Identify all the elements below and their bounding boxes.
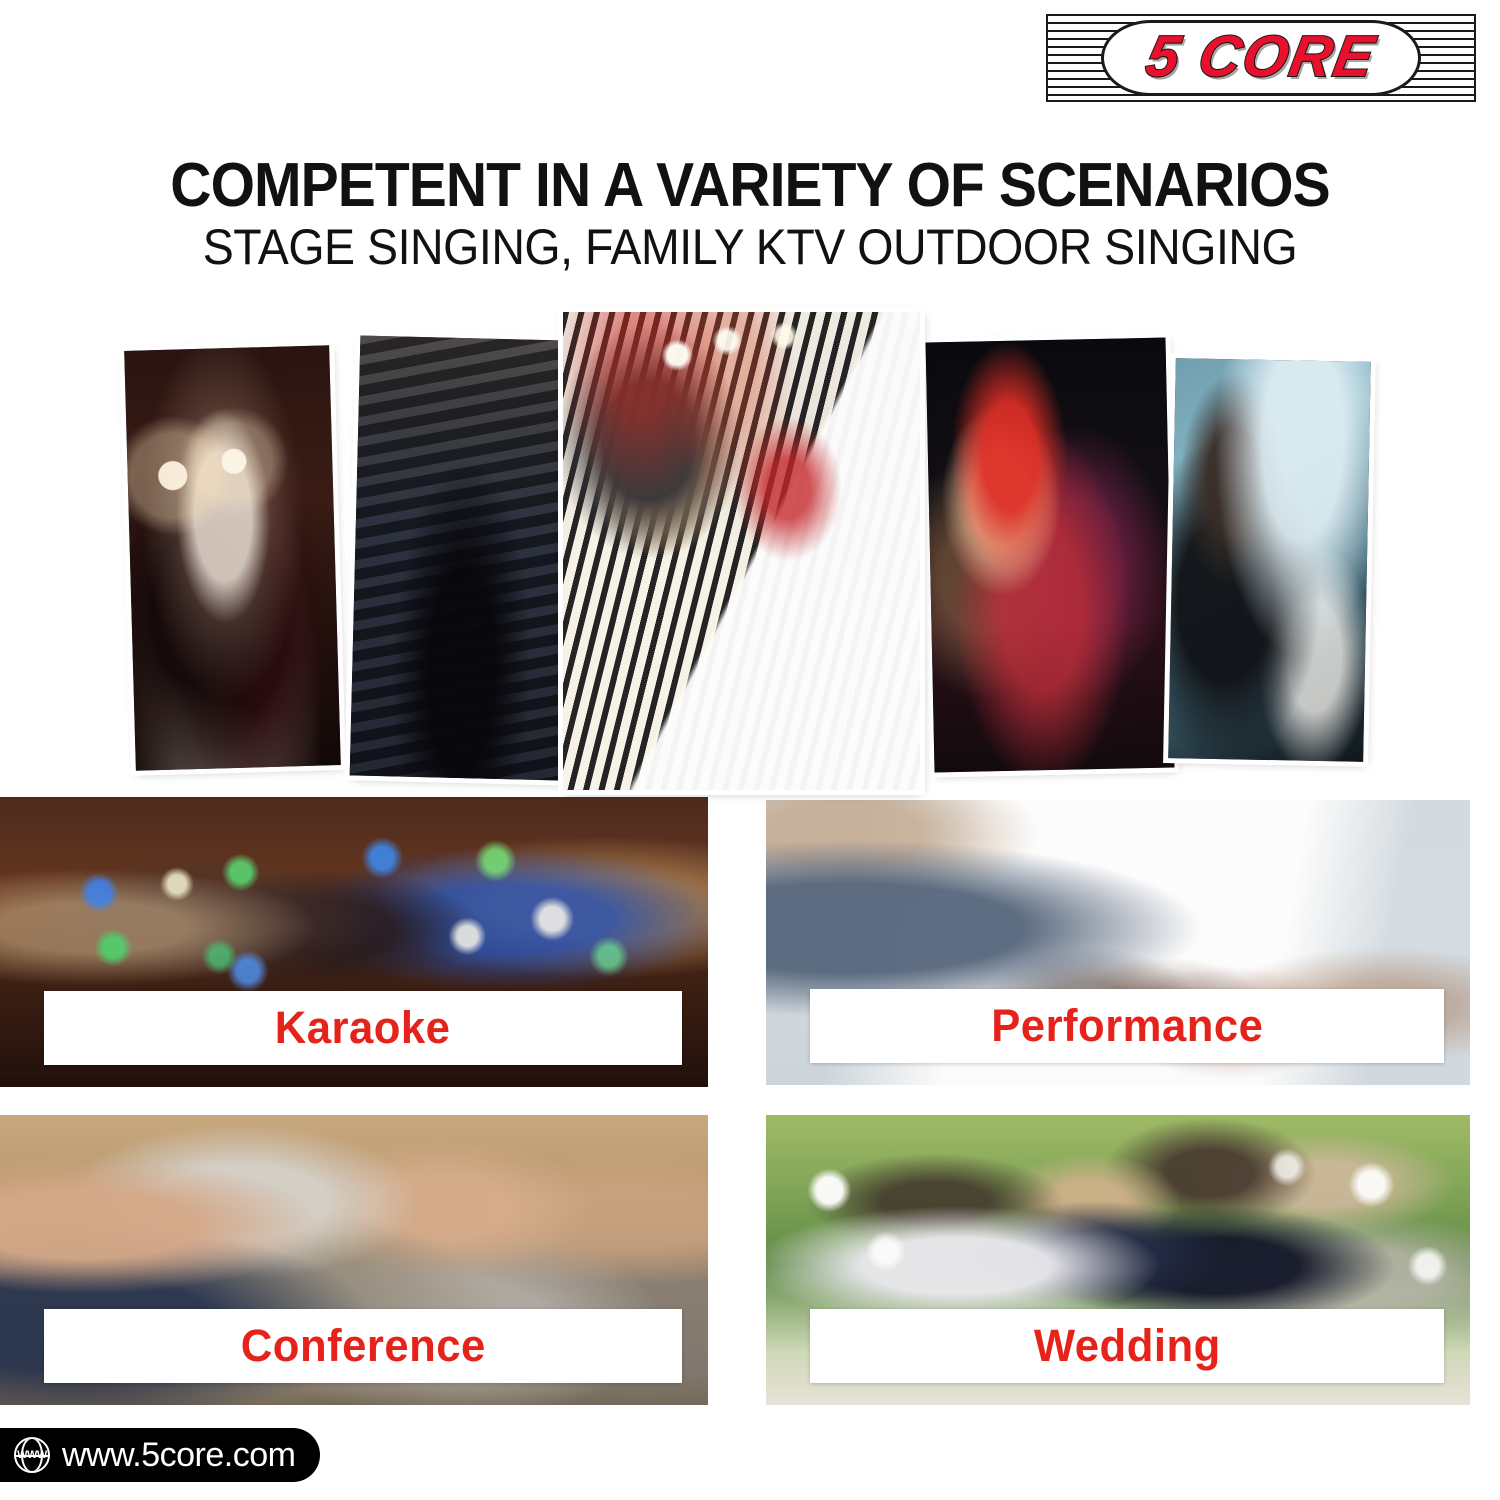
gallery-panel-piano (563, 312, 920, 790)
scenario-label-text: Karaoke (275, 1002, 451, 1054)
scenario-label-text: Conference (240, 1320, 485, 1372)
scenario-card-performance: Performance (766, 800, 1470, 1085)
globe-www-icon: WWW (14, 1437, 50, 1473)
website-badge: WWW www.5core.com (0, 1428, 320, 1482)
audience-photo (350, 336, 571, 781)
scenario-card-conference: Conference (0, 1115, 708, 1405)
gallery-panel-ballet (124, 345, 341, 771)
scenario-label-performance: Performance (810, 989, 1444, 1063)
piano-photo (563, 312, 920, 790)
drummer-photo (1168, 358, 1371, 762)
scenario-grid: Karaoke Performance Conference Wedding (0, 797, 1500, 1407)
scenario-label-conference: Conference (44, 1309, 682, 1383)
website-url: www.5core.com (62, 1436, 295, 1475)
scenario-card-karaoke: Karaoke (0, 797, 708, 1087)
scenario-label-text: Performance (991, 1000, 1263, 1052)
gallery-panel-singer (926, 338, 1175, 773)
brand-logo: 5 CORE (1046, 14, 1476, 102)
ballet-photo (124, 345, 341, 771)
fan-gallery (0, 300, 1500, 805)
page-title: COMPETENT IN A VARIETY OF SCENARIOS (60, 150, 1440, 221)
scenario-card-wedding: Wedding (766, 1115, 1470, 1405)
scenario-label-karaoke: Karaoke (44, 991, 682, 1065)
singer-photo (926, 338, 1175, 773)
page-subtitle: STAGE SINGING, FAMILY KTV OUTDOOR SINGIN… (53, 218, 1448, 276)
logo-text: 5 CORE (1141, 23, 1381, 90)
gallery-panel-drummer (1168, 358, 1371, 762)
gallery-panel-audience (350, 336, 571, 781)
scenario-label-wedding: Wedding (810, 1309, 1444, 1383)
scenario-label-text: Wedding (1034, 1320, 1221, 1372)
